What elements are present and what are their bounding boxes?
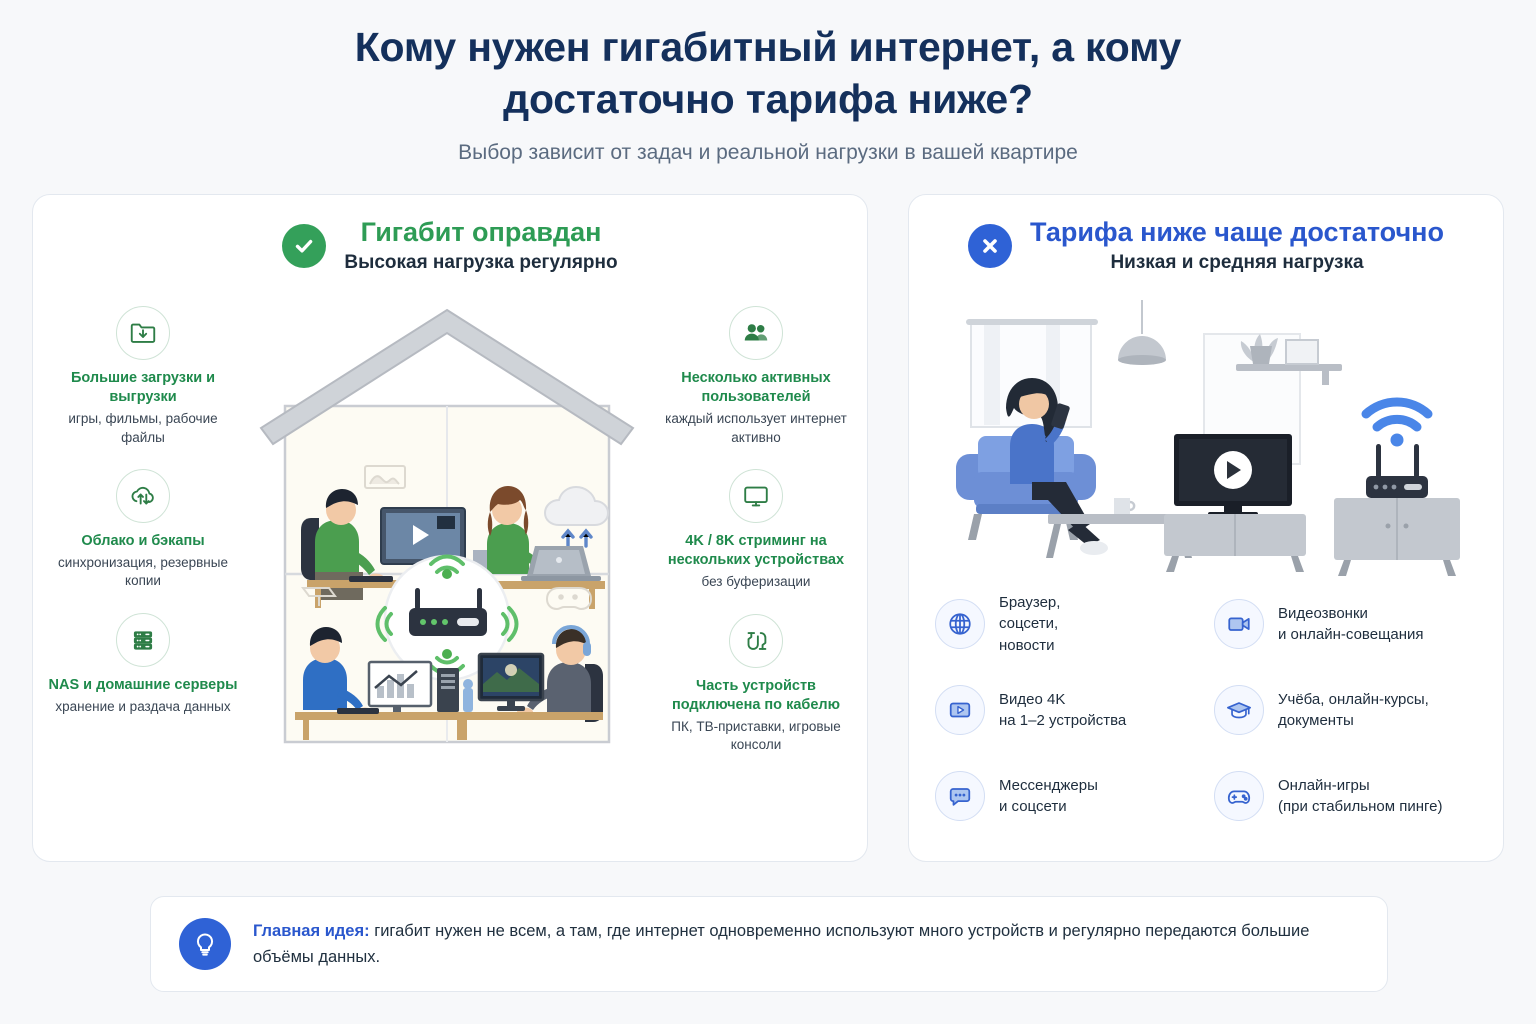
feature-title: 4K / 8K стриминг на нескольких устройств…: [653, 532, 859, 570]
left-panel-body: Большие загрузки и выгрузки игры, фильмы…: [33, 274, 867, 777]
gamepad-icon: [1214, 771, 1264, 821]
tile-line-1: Видеозвонки: [1278, 603, 1424, 624]
graduation-cap-icon: [1214, 685, 1264, 735]
feature-title: Облако и бэкапы: [45, 532, 241, 551]
tile-line-2: и соцсети: [999, 796, 1098, 817]
right-panel-header: Тарифа ниже чаще достаточно Низкая и сре…: [909, 195, 1503, 274]
tile-line-2: и онлайн-совещания: [1278, 624, 1424, 645]
right-panel-subtitle: Низкая и средняя нагрузка: [1030, 252, 1444, 274]
feature-desc: без буферизации: [653, 573, 859, 591]
x-circle-icon: [968, 224, 1012, 268]
ethernet-cable-icon: [729, 614, 783, 668]
key-idea-note: Главная идея: гигабит нужен не всем, а т…: [150, 896, 1388, 992]
feature-title: Большие загрузки и выгрузки: [45, 369, 241, 407]
feature-multiple-users: Несколько активных пользователей каждый …: [653, 306, 859, 447]
video-camera-icon: [1214, 599, 1264, 649]
tile-text: Видеозвонки и онлайн-совещания: [1278, 603, 1424, 646]
feature-large-downloads: Большие загрузки и выгрузки игры, фильмы…: [45, 306, 241, 447]
users-group-icon: [729, 306, 783, 360]
feature-nas-servers: NAS и домашние серверы хранение и раздач…: [45, 613, 241, 716]
feature-desc: хранение и раздача данных: [45, 698, 241, 716]
feature-title: Часть устройств подключена по кабелю: [653, 677, 859, 715]
tile-line-1: Учёба, онлайн-курсы,: [1278, 689, 1429, 710]
monitor-icon: [729, 469, 783, 523]
feature-desc: ПК, ТВ-приставки, игровые консоли: [653, 718, 859, 755]
cloud-sync-icon: [116, 469, 170, 523]
tile-line-1: Видео 4K: [999, 689, 1126, 710]
tile-line-1: Мессенджеры: [999, 775, 1098, 796]
tile-line-3: новости: [999, 635, 1060, 656]
header: Кому нужен гигабитный интернет, а кому д…: [0, 0, 1536, 165]
feature-desc: каждый использует интернет активно: [653, 410, 859, 447]
tile-line-1: Браузер,: [999, 592, 1060, 613]
infographic-page: Кому нужен гигабитный интернет, а кому д…: [0, 0, 1536, 1024]
key-idea-text: Главная идея: гигабит нужен не всем, а т…: [253, 918, 1359, 971]
key-idea-body: гигабит нужен не всем, а там, где интерн…: [253, 922, 1309, 966]
tile-online-games: Онлайн-игры (при стабильном пинге): [1214, 760, 1477, 832]
tile-messengers: Мессенджеры и соцсети: [935, 760, 1198, 832]
tile-browser: Браузер, соцсети, новости: [935, 588, 1198, 660]
tile-text: Онлайн-игры (при стабильном пинге): [1278, 775, 1442, 818]
right-panel-title: Тарифа ниже чаще достаточно: [1030, 217, 1444, 248]
tile-text: Браузер, соцсети, новости: [999, 592, 1060, 656]
left-panel-title: Гигабит оправдан: [344, 217, 617, 248]
living-room-illustration: [909, 274, 1503, 578]
tile-line-2: (при стабильном пинге): [1278, 796, 1442, 817]
left-panel-subtitle: Высокая нагрузка регулярно: [344, 252, 617, 274]
lightbulb-icon: [179, 918, 231, 970]
tile-video-4k: Видео 4K на 1–2 устройства: [935, 674, 1198, 746]
video-play-icon: [935, 685, 985, 735]
tile-line-2: на 1–2 устройства: [999, 710, 1126, 731]
tile-text: Мессенджеры и соцсети: [999, 775, 1098, 818]
folder-download-icon: [116, 306, 170, 360]
tile-line-2: документы: [1278, 710, 1429, 731]
panel-gigabit-justified: Гигабит оправдан Высокая нагрузка регуля…: [32, 194, 868, 862]
tile-text: Учёба, онлайн-курсы, документы: [1278, 689, 1429, 732]
feature-desc: синхронизация, резервные копии: [45, 554, 241, 591]
feature-4k-8k-streaming: 4K / 8K стриминг на нескольких устройств…: [653, 469, 859, 592]
globe-icon: [935, 599, 985, 649]
feature-column-left: Большие загрузки и выгрузки игры, фильмы…: [45, 292, 241, 738]
chat-bubble-icon: [935, 771, 985, 821]
house-illustration: [241, 292, 653, 758]
feature-column-right: Несколько активных пользователей каждый …: [653, 292, 859, 777]
tile-video-calls: Видеозвонки и онлайн-совещания: [1214, 588, 1477, 660]
check-circle-icon: [282, 224, 326, 268]
tile-study: Учёба, онлайн-курсы, документы: [1214, 674, 1477, 746]
feature-desc: игры, фильмы, рабочие файлы: [45, 410, 241, 447]
panels-row: Гигабит оправдан Высокая нагрузка регуля…: [32, 194, 1504, 862]
panel-lower-tariff-enough: Тарифа ниже чаще достаточно Низкая и сре…: [908, 194, 1504, 862]
feature-wired-devices: Часть устройств подключена по кабелю ПК,…: [653, 614, 859, 755]
page-subtitle: Выбор зависит от задач и реальной нагруз…: [0, 141, 1536, 165]
usage-tiles: Браузер, соцсети, новости Видеозвонки: [909, 578, 1503, 832]
page-title: Кому нужен гигабитный интернет, а кому д…: [263, 22, 1273, 125]
left-panel-header: Гигабит оправдан Высокая нагрузка регуля…: [33, 195, 867, 274]
tile-text: Видео 4K на 1–2 устройства: [999, 689, 1126, 732]
server-rack-icon: [116, 613, 170, 667]
tile-line-1: Онлайн-игры: [1278, 775, 1442, 796]
tile-line-2: соцсети,: [999, 613, 1060, 634]
feature-cloud-backups: Облако и бэкапы синхронизация, резервные…: [45, 469, 241, 591]
feature-title: NAS и домашние серверы: [45, 676, 241, 695]
feature-title: Несколько активных пользователей: [653, 369, 859, 407]
key-idea-label: Главная идея:: [253, 922, 370, 940]
